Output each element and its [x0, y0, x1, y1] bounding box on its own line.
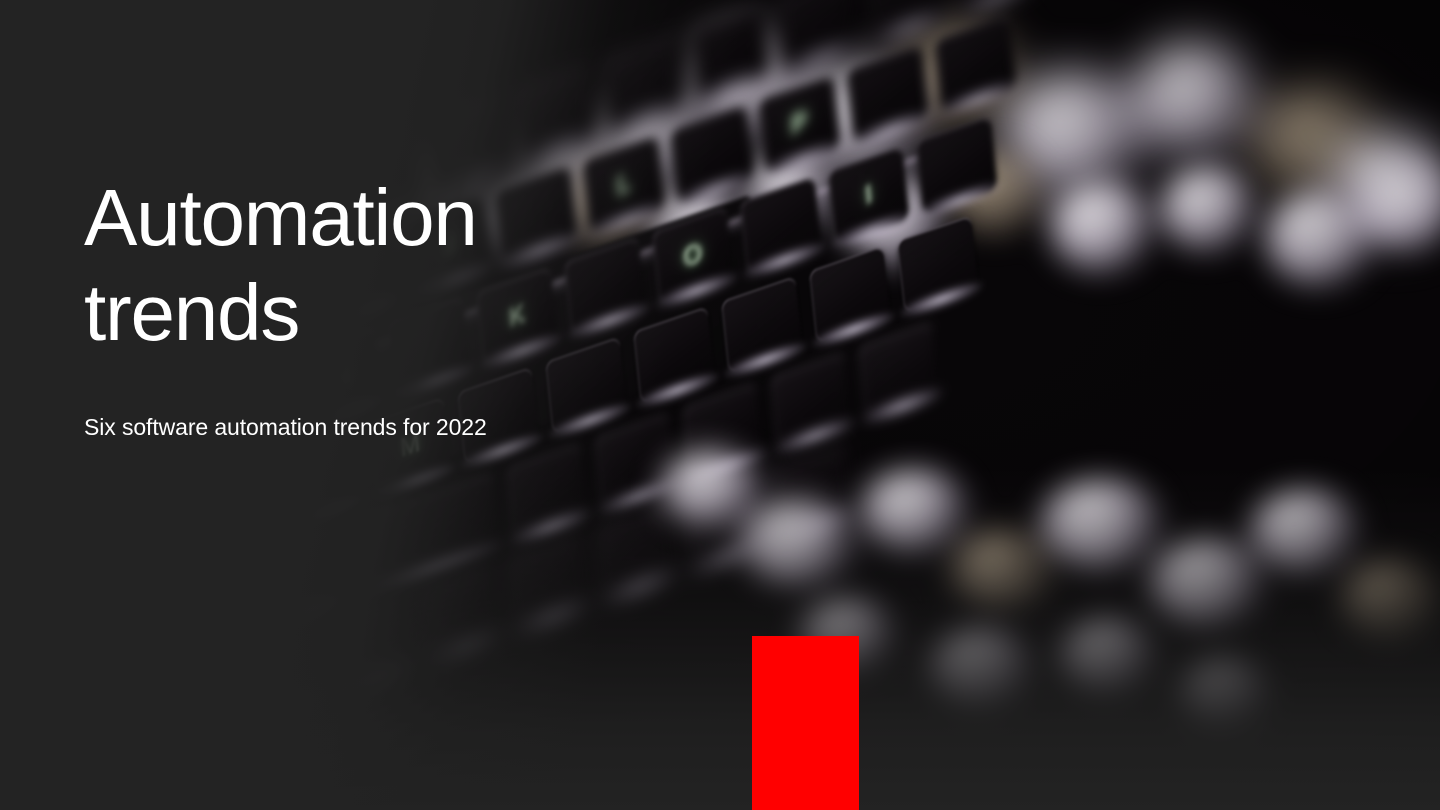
keycap: [771, 443, 852, 540]
keycap: [419, 564, 500, 661]
keycap: [683, 473, 764, 570]
accent-bar: [752, 636, 859, 810]
keycap: [682, 383, 763, 480]
keycap: [721, 276, 802, 373]
keycap: [595, 504, 676, 601]
keycap: [953, 0, 1034, 10]
keycap-glyph: L: [615, 167, 631, 201]
keycap: [243, 625, 324, 722]
page-title: Automation trends: [84, 170, 487, 360]
keycap: [507, 534, 588, 631]
keycap: [495, 166, 576, 263]
slide-canvas: J L P N K: [0, 0, 1440, 810]
keycap-i: I: [828, 146, 909, 243]
keycap: [281, 428, 362, 525]
keycap: [507, 443, 588, 540]
keycap-glyph: I: [864, 179, 874, 211]
keycap: [545, 337, 626, 434]
keycap-glyph: K: [507, 298, 526, 333]
keycap-o: O: [652, 207, 733, 304]
keycap: [594, 413, 675, 510]
keycap: [263, 527, 344, 624]
keycap: [865, 0, 946, 40]
keycap: [740, 177, 821, 274]
keycap: [770, 352, 851, 449]
keycap-k: K: [476, 267, 557, 364]
headline-block: Automation trends Six software automatio…: [84, 170, 487, 442]
keycap: [897, 216, 978, 313]
keycap: [847, 45, 928, 142]
keycap-l: L: [583, 136, 664, 233]
keycap: [331, 594, 412, 691]
page-subtitle: Six software automation trends for 2022: [84, 360, 487, 442]
keycap: [777, 0, 858, 70]
keycap: [633, 306, 714, 403]
keycap: [671, 105, 752, 202]
keycap-glyph: P: [790, 106, 809, 141]
keycap: [564, 237, 645, 334]
keycap-space: [350, 473, 499, 593]
keycap: [690, 4, 771, 101]
keycap-p: P: [759, 75, 840, 172]
keycap: [514, 64, 595, 161]
keycap: [809, 246, 890, 343]
keycap: [916, 116, 997, 213]
keycap: [602, 34, 683, 131]
keycap-glyph: O: [682, 237, 704, 273]
keycap: [935, 14, 1016, 111]
keycap: [858, 322, 939, 419]
